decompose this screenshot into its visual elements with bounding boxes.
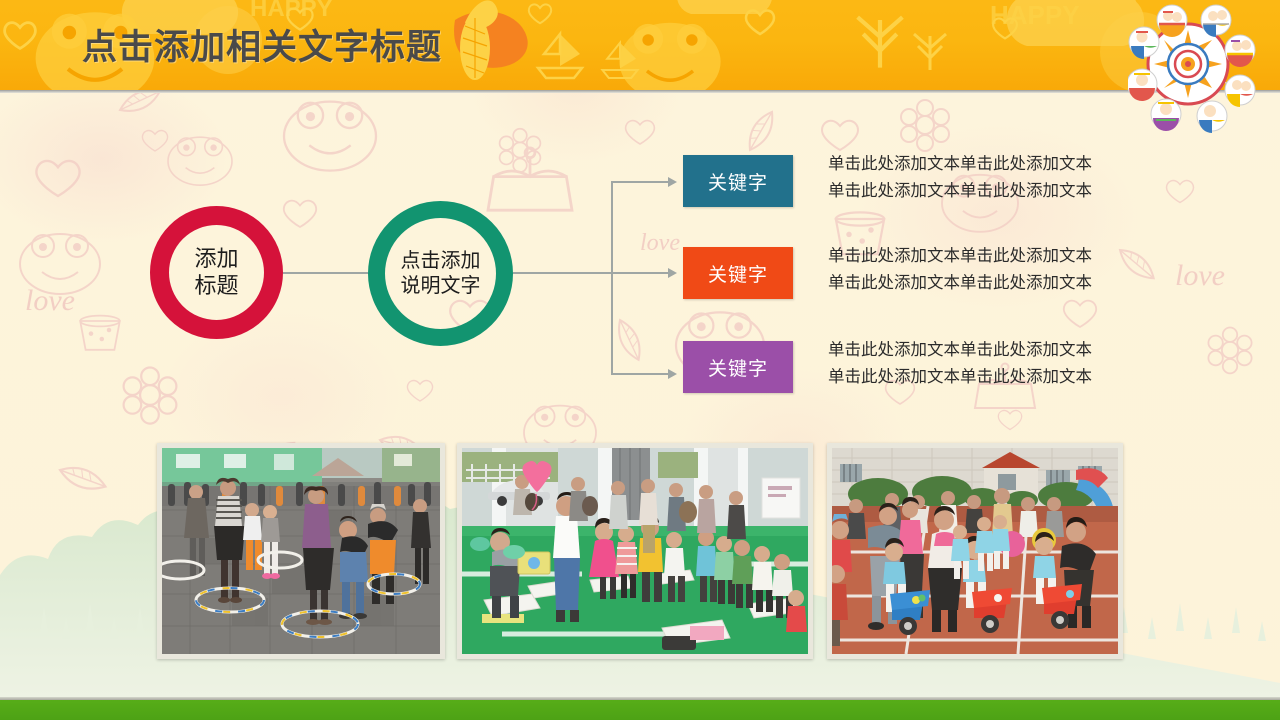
photo-wheelbarrow-race[interactable] [827,443,1123,659]
keyword-body-3-line-2: 单击此处添加文本单击此处添加文本 [828,364,1248,391]
connector-arm-top [611,181,671,183]
footer-bar [0,700,1280,720]
keyword-body-2-line-1: 单击此处添加文本单击此处添加文本 [828,243,1248,270]
keyword-badge-2[interactable]: 关键字 [683,247,793,299]
secondary-circle-line-1: 点击添加 [401,250,481,272]
keyword-body-2: 单击此处添加文本单击此处添加文本 单击此处添加文本单击此处添加文本 [828,243,1248,296]
keyword-body-2-line-2: 单击此处添加文本单击此处添加文本 [828,270,1248,297]
keyword-body-1-line-2: 单击此处添加文本单击此处添加文本 [828,178,1248,205]
secondary-circle-node[interactable]: 点击添加 说明文字 [368,201,513,346]
primary-circle-label: 添加 标题 [194,246,238,300]
keyword-body-3: 单击此处添加文本单击此处添加文本 单击此处添加文本单击此处添加文本 [828,337,1248,390]
connector-secondary-to-branch [513,272,612,274]
banner-divider [0,90,1280,93]
slide-canvas: love [0,0,1280,720]
primary-circle-line-1: 添加 [194,246,238,271]
photo-hula-hoop-activity[interactable] [157,443,445,659]
keyword-body-1: 单击此处添加文本单击此处添加文本 单击此处添加文本单击此处添加文本 [828,151,1248,204]
connector-primary-to-secondary [283,272,368,274]
connector-arm-bottom [611,373,671,375]
photo-1-image [162,448,440,654]
keyword-body-3-line-1: 单击此处添加文本单击此处添加文本 [828,337,1248,364]
page-title: 点击添加相关文字标题 [82,19,442,70]
keyword-badge-3[interactable]: 关键字 [683,341,793,393]
keyword-row-3: 关键字 单击此处添加文本单击此处添加文本 单击此处添加文本单击此处添加文本 [683,341,1243,395]
arrow-head-top-icon [668,177,677,187]
keyword-body-1-line-1: 单击此处添加文本单击此处添加文本 [828,151,1248,178]
secondary-circle-line-2: 说明文字 [401,275,481,297]
connector-arm-middle [611,272,671,274]
slide-header-banner: HAPPY HAPPY 点击添加相关文字标题 [0,0,1280,90]
photo-2-image [462,448,808,654]
keyword-row-1: 关键字 单击此处添加文本单击此处添加文本 单击此处添加文本单击此处添加文本 [683,155,1243,209]
ferris-wheel-icon [1128,2,1280,136]
connector-vertical-branch [611,181,613,374]
arrow-head-middle-icon [668,268,677,278]
primary-circle-node[interactable]: 添加 标题 [150,206,283,339]
primary-circle-line-2: 标题 [194,273,238,298]
svg-text:HAPPY: HAPPY [990,0,1080,30]
secondary-circle-label: 点击添加 说明文字 [401,249,481,298]
arrow-head-bottom-icon [668,369,677,379]
keyword-row-2: 关键字 单击此处添加文本单击此处添加文本 单击此处添加文本单击此处添加文本 [683,247,1243,301]
photo-indoor-green-floor-activity[interactable] [457,443,813,659]
photo-3-image [832,448,1118,654]
keyword-badge-1[interactable]: 关键字 [683,155,793,207]
